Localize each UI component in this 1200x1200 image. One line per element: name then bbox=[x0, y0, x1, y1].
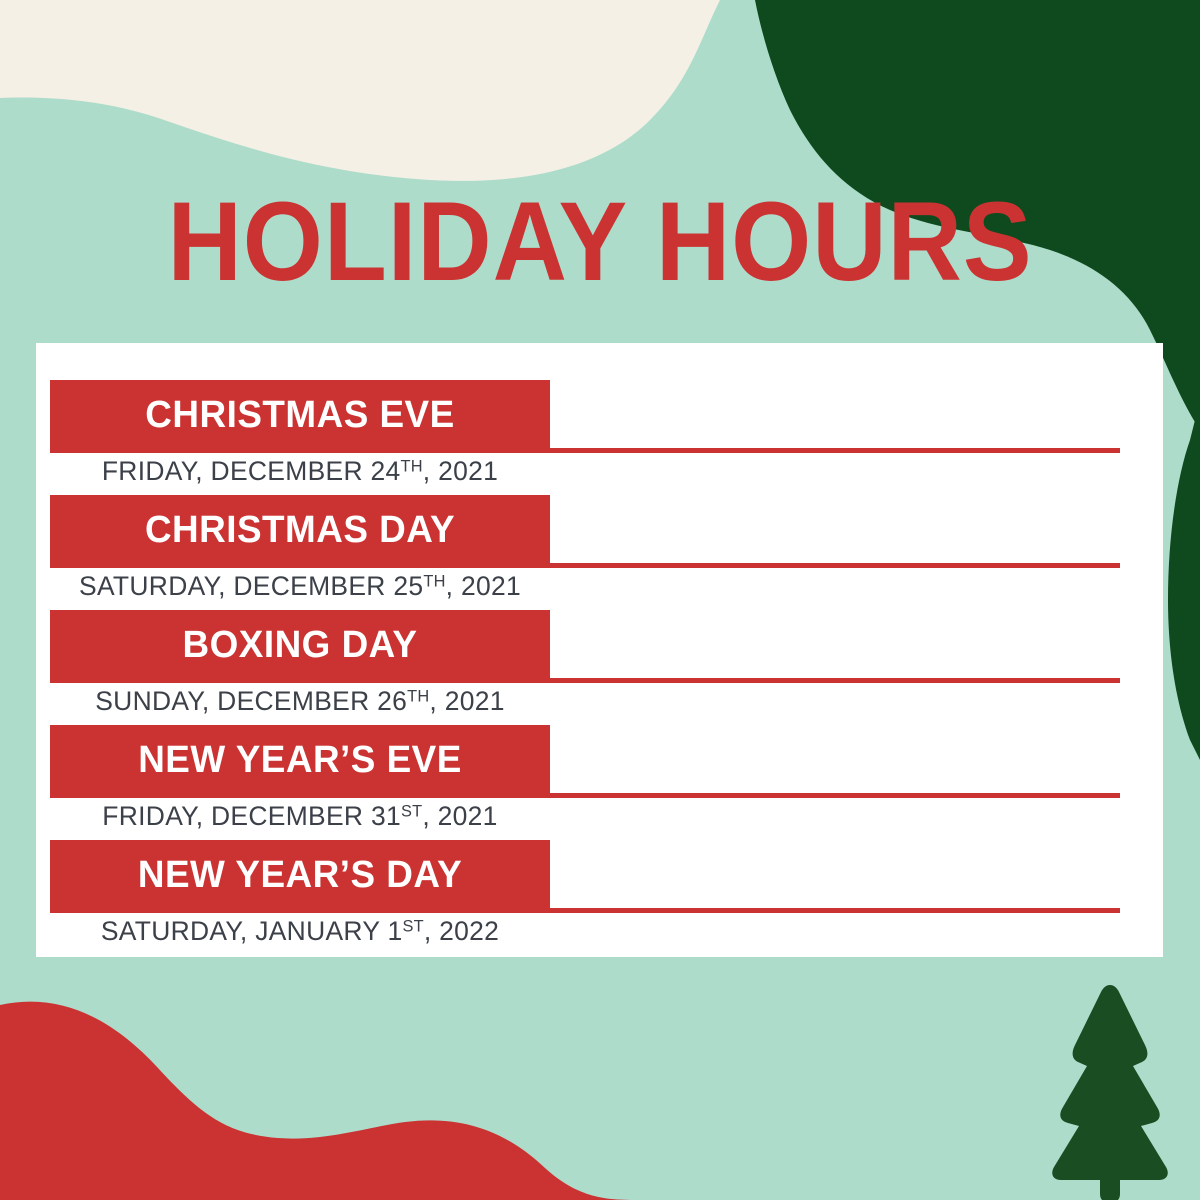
date-year: , 2021 bbox=[422, 801, 497, 831]
holiday-name-bar: BOXING DAY bbox=[50, 610, 550, 681]
date-year: , 2021 bbox=[446, 571, 521, 601]
date-weekday: SATURDAY, JANUARY bbox=[101, 916, 388, 946]
date-ordinal: ST bbox=[402, 916, 423, 935]
date-ordinal: TH bbox=[401, 456, 423, 475]
date-day: 31 bbox=[371, 801, 401, 831]
schedule-row: CHRISTMAS EVE FRIDAY, DECEMBER 24TH, 202… bbox=[36, 380, 1163, 495]
holiday-date-label: SATURDAY, DECEMBER 25TH, 2021 bbox=[55, 571, 545, 602]
date-weekday: FRIDAY, DECEMBER bbox=[102, 456, 371, 486]
holiday-name-label: CHRISTMAS DAY bbox=[58, 495, 543, 566]
holiday-name-label: NEW YEAR’S EVE bbox=[58, 725, 543, 796]
date-weekday: FRIDAY, DECEMBER bbox=[102, 801, 371, 831]
date-ordinal: ST bbox=[401, 801, 422, 820]
date-weekday: SATURDAY, DECEMBER bbox=[79, 571, 393, 601]
date-year: , 2021 bbox=[429, 686, 504, 716]
date-day: 24 bbox=[371, 456, 401, 486]
date-day: 1 bbox=[387, 916, 402, 946]
date-ordinal: TH bbox=[407, 686, 429, 705]
holiday-date-label: FRIDAY, DECEMBER 31ST, 2021 bbox=[55, 801, 545, 832]
date-year: , 2021 bbox=[423, 456, 498, 486]
holiday-date-label: SATURDAY, JANUARY 1ST, 2022 bbox=[55, 916, 545, 947]
holiday-name-bar: CHRISTMAS EVE bbox=[50, 380, 550, 451]
holiday-name-label: NEW YEAR’S DAY bbox=[58, 840, 543, 911]
date-day: 26 bbox=[377, 686, 407, 716]
schedule-row: NEW YEAR’S DAY SATURDAY, JANUARY 1ST, 20… bbox=[36, 840, 1163, 955]
date-weekday: SUNDAY, DECEMBER bbox=[95, 686, 377, 716]
date-day: 25 bbox=[393, 571, 423, 601]
holiday-name-bar: NEW YEAR’S EVE bbox=[50, 725, 550, 796]
schedule-row: NEW YEAR’S EVE FRIDAY, DECEMBER 31ST, 20… bbox=[36, 725, 1163, 840]
schedule-row: CHRISTMAS DAY SATURDAY, DECEMBER 25TH, 2… bbox=[36, 495, 1163, 610]
schedule-row: BOXING DAY SUNDAY, DECEMBER 26TH, 2021 bbox=[36, 610, 1163, 725]
date-year: , 2022 bbox=[424, 916, 499, 946]
holiday-name-label: CHRISTMAS EVE bbox=[58, 380, 543, 451]
holiday-name-label: BOXING DAY bbox=[58, 610, 543, 681]
holiday-name-bar: CHRISTMAS DAY bbox=[50, 495, 550, 566]
holiday-date-label: FRIDAY, DECEMBER 24TH, 2021 bbox=[55, 456, 545, 487]
holiday-date-label: SUNDAY, DECEMBER 26TH, 2021 bbox=[55, 686, 545, 717]
date-ordinal: TH bbox=[423, 571, 445, 590]
holiday-hours-poster: HOLIDAY HOURS CHRISTMAS EVE FRIDAY, DECE… bbox=[0, 0, 1200, 1200]
page-title: HOLIDAY HOURS bbox=[48, 186, 1152, 298]
holiday-name-bar: NEW YEAR’S DAY bbox=[50, 840, 550, 911]
schedule-card: CHRISTMAS EVE FRIDAY, DECEMBER 24TH, 202… bbox=[36, 343, 1163, 957]
